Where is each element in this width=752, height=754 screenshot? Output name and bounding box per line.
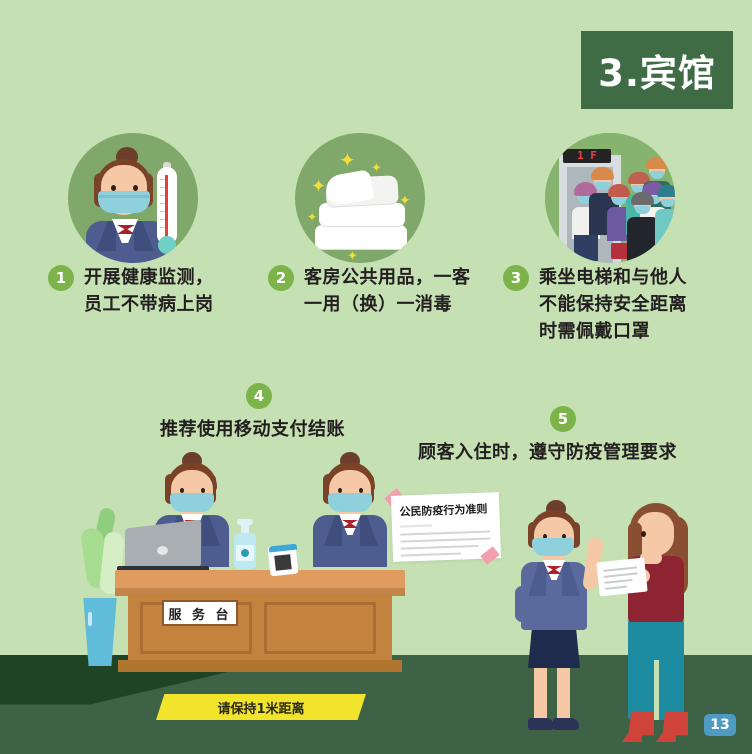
page-title-plaque: 3.宾馆 (581, 31, 733, 109)
illustration-circle-3: 1 F (545, 133, 675, 263)
face-mask-icon (532, 538, 574, 556)
infographic-page: 3.宾馆 ✦ ✦ ✦ ✦ ✦ (0, 0, 752, 754)
sparkle-icon: ✦ (347, 249, 358, 262)
poster-text-line (400, 524, 432, 527)
elevator-floor-display: 1 F (563, 149, 611, 163)
sparkle-icon: ✦ (371, 161, 382, 174)
sparkle-icon: ✦ (307, 211, 317, 223)
sparkle-icon: ✦ (399, 193, 411, 207)
tip-badge-1: 1 (48, 265, 74, 291)
paper-line (604, 579, 632, 584)
leg-left (534, 666, 547, 720)
floor-distance-text: 请保持1米距离 (217, 698, 304, 717)
sparkle-icon: ✦ (339, 151, 356, 171)
poster-text-line (401, 545, 479, 550)
arm-down (515, 586, 529, 622)
tip-badge-5: 5 (550, 406, 576, 432)
leg-gap (654, 660, 659, 720)
page-title: 3.宾馆 (598, 43, 716, 97)
face-mask-icon (328, 493, 372, 512)
tip-badge-4: 4 (246, 383, 272, 409)
illustration-circle-2: ✦ ✦ ✦ ✦ ✦ ✦ (295, 133, 425, 263)
paper-line (604, 572, 638, 578)
service-desk-sign-text: 服 务 台 (168, 604, 231, 623)
mask-band (98, 195, 150, 198)
eye (641, 531, 646, 537)
pointing-hand-icon (588, 538, 603, 554)
poster-text-line (401, 552, 461, 556)
poster-text-line (400, 537, 490, 542)
uniform-skirt (528, 626, 580, 668)
laptop-logo (157, 546, 168, 555)
thermometer-bulb (158, 236, 176, 254)
floor-distance-tape: 请保持1米距离 (156, 694, 366, 720)
elevator-floor-text: 1 F (563, 149, 611, 163)
tip-text-4: 推荐使用移动支付结账 (160, 416, 345, 443)
tip-badge-3: 3 (503, 265, 529, 291)
towel-bottom (315, 225, 407, 249)
sparkle-icon: ✦ (311, 177, 326, 195)
wall-poster-title: 公民防疫行为准则 (399, 501, 488, 520)
poster-text-line (400, 530, 490, 535)
illustration-circle-1 (68, 133, 198, 263)
tip-text-5: 顾客入住时，遵守防疫管理要求 (418, 439, 677, 466)
tip-text-2: 客房公共用品，一客 一用（换）一消毒 (304, 264, 471, 318)
plant-pot-highlight (88, 612, 92, 626)
tip-badge-2: 2 (268, 265, 294, 291)
tip-text-3: 乘坐电梯和与他人 不能保持安全距离 时需佩戴口罩 (539, 264, 687, 345)
tip-text-1: 开展健康监测， 员工不带病上岗 (84, 264, 214, 318)
paper-line (605, 586, 627, 590)
leg-right (557, 666, 570, 720)
page-number-badge: 13 (704, 714, 736, 736)
thermometer-mercury (165, 175, 168, 243)
paper-line (603, 566, 637, 572)
face-mask-icon (170, 493, 214, 512)
shoe-right (553, 718, 579, 730)
sanitizer-cross-icon (241, 549, 249, 557)
reception-desk-base (118, 660, 402, 672)
service-desk-sign: 服 务 台 (162, 600, 238, 626)
shoe-left (528, 718, 554, 730)
qr-code-icon (274, 554, 291, 571)
document-paper-icon (596, 558, 647, 597)
desk-panel-right (264, 602, 376, 654)
